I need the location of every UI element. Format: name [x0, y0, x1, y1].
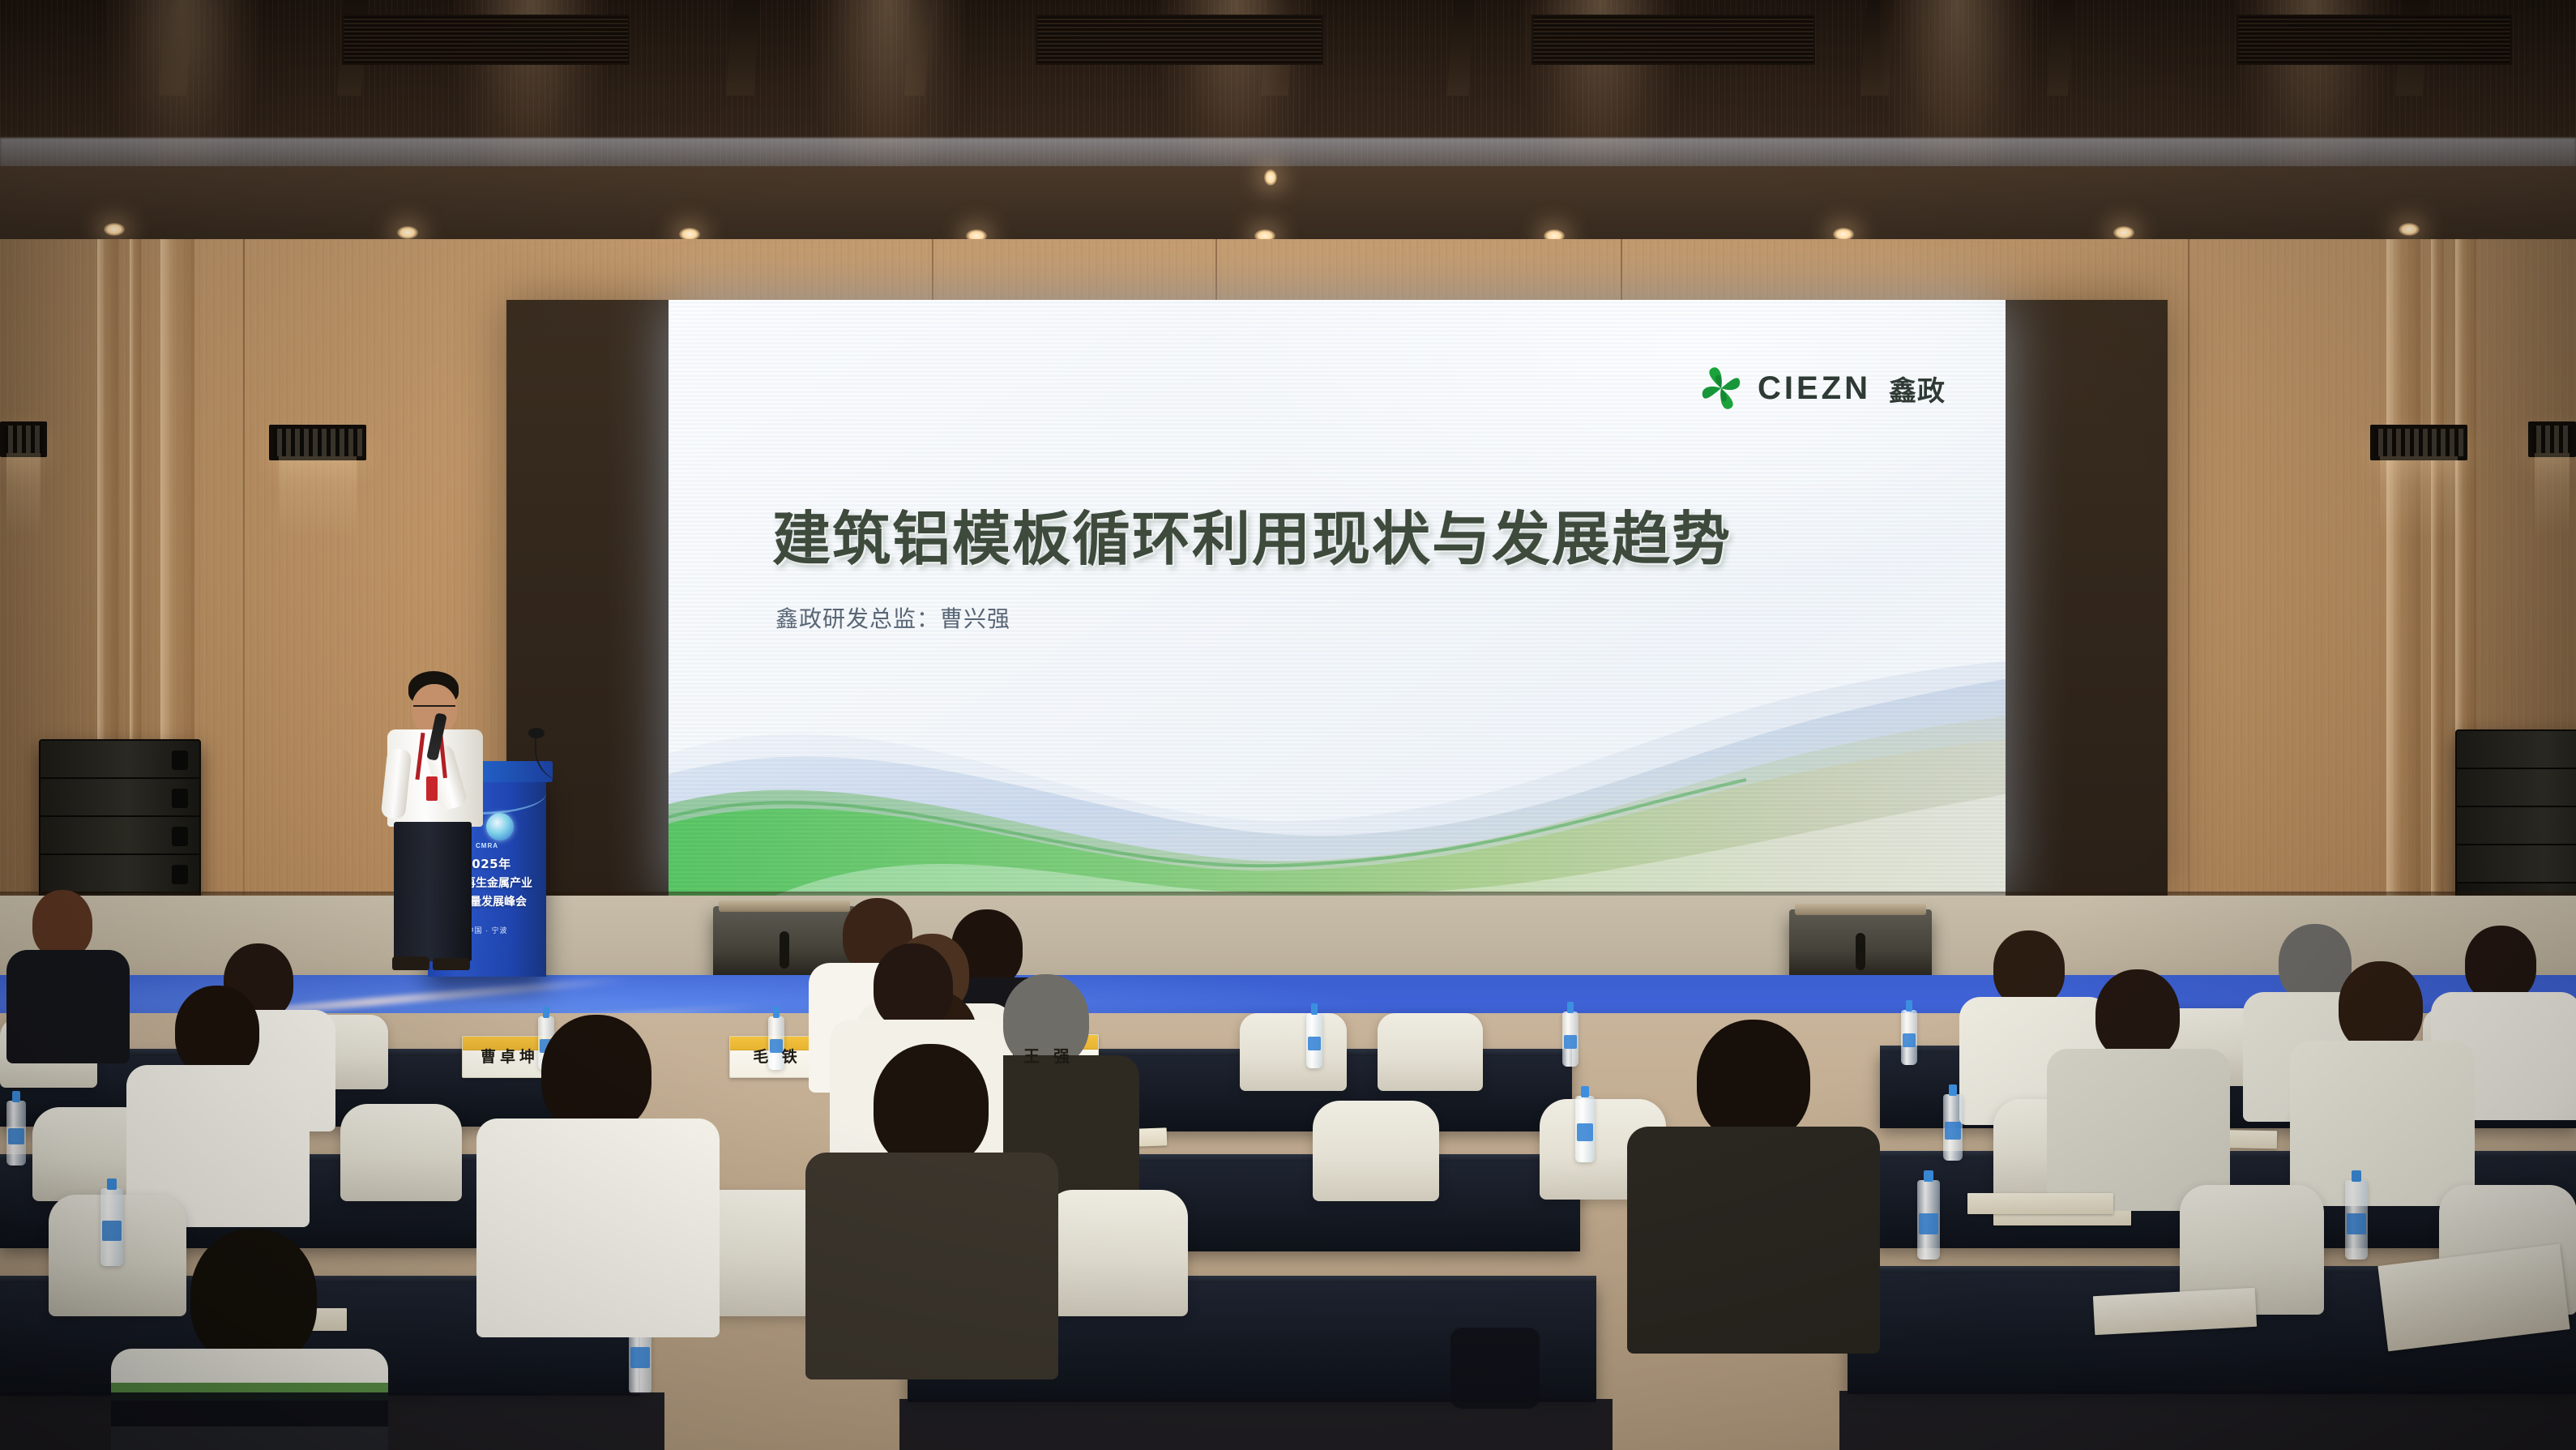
- namecard-text: 曹卓坤: [481, 1045, 539, 1077]
- chair[interactable]: [340, 1104, 462, 1201]
- chair[interactable]: [1240, 1013, 1347, 1091]
- downlight: [2399, 223, 2420, 236]
- document-on-table: [1967, 1193, 2113, 1214]
- presenter-trousers: [394, 822, 472, 961]
- slide-surface[interactable]: CIEZN 鑫政 建筑铝模板循环利用现状与发展趋势 鑫政研发总监：曹兴强: [669, 300, 2006, 900]
- downlight: [397, 226, 418, 239]
- chair[interactable]: [1378, 1013, 1483, 1091]
- logo-chinese-text: 鑫政: [1889, 369, 1946, 408]
- wall-light-fixture: [2370, 425, 2467, 460]
- slide-subtitle: 鑫政研发总监：曹兴强: [775, 601, 1010, 634]
- presenter-shoe: [433, 958, 470, 970]
- water-bottle: [2345, 1180, 2368, 1260]
- wall-light-fixture: [269, 425, 366, 460]
- conference-hall-scene: CIEZN 鑫政 建筑铝模板循环利用现状与发展趋势 鑫政研发总监：曹兴强 CMR…: [0, 0, 2576, 1450]
- presenter-shoe: [392, 956, 429, 970]
- presenter: [373, 671, 527, 979]
- water-bottle: [1306, 1013, 1322, 1068]
- water-bottle: [1917, 1180, 1940, 1260]
- downlight: [2113, 226, 2134, 239]
- wall-light-fixture: [2528, 421, 2576, 457]
- stage-monitor-wedge-right: [1789, 909, 1932, 984]
- ceiling-air-vent: [1532, 15, 1815, 65]
- presentation-screen[interactable]: CIEZN 鑫政 建筑铝模板循环利用现状与发展趋势 鑫政研发总监：曹兴强: [506, 300, 2168, 900]
- namecard-text: 毛 铁: [753, 1045, 801, 1077]
- ceiling-air-vent: [2236, 15, 2512, 65]
- water-bottle: [1562, 1012, 1578, 1067]
- water-bottle: [1901, 1010, 1917, 1065]
- slide-title: 建筑铝模板循环利用现状与发展趋势: [772, 491, 1732, 576]
- water-bottle: [6, 1101, 26, 1166]
- line-array-speaker-stack-right: [2455, 729, 2576, 901]
- slide-wave-graphic: [669, 632, 2006, 900]
- water-bottle: [1943, 1094, 1963, 1161]
- presenter-badge: [426, 776, 438, 801]
- logo-latin-text: CIEZN: [1758, 370, 1871, 407]
- line-array-speaker-stack-left: [39, 739, 201, 901]
- presenter-glasses: [413, 705, 455, 713]
- water-bottle: [1575, 1096, 1595, 1162]
- bag-on-floor: [1450, 1328, 1540, 1409]
- screen-bezel-right: [2006, 300, 2168, 900]
- gooseneck-mic-capsule: [528, 728, 545, 738]
- wall-light-fixture: [0, 421, 47, 457]
- ciezn-pinwheel-icon: [1696, 363, 1746, 413]
- slide-brand-logo: CIEZN 鑫政: [1696, 363, 1946, 413]
- ceiling-sensor-light: [1264, 169, 1277, 186]
- floor-carpet-strip: [1839, 1391, 2576, 1450]
- ceiling-air-vent: [1036, 15, 1323, 65]
- chair[interactable]: [1045, 1190, 1188, 1316]
- chair[interactable]: [1313, 1101, 1439, 1201]
- water-bottle: [100, 1188, 123, 1266]
- floor-carpet-strip: [0, 1392, 664, 1450]
- ceiling-air-vent: [342, 15, 630, 65]
- namecard-text: 王 强: [1023, 1043, 1074, 1077]
- downlight: [104, 223, 125, 236]
